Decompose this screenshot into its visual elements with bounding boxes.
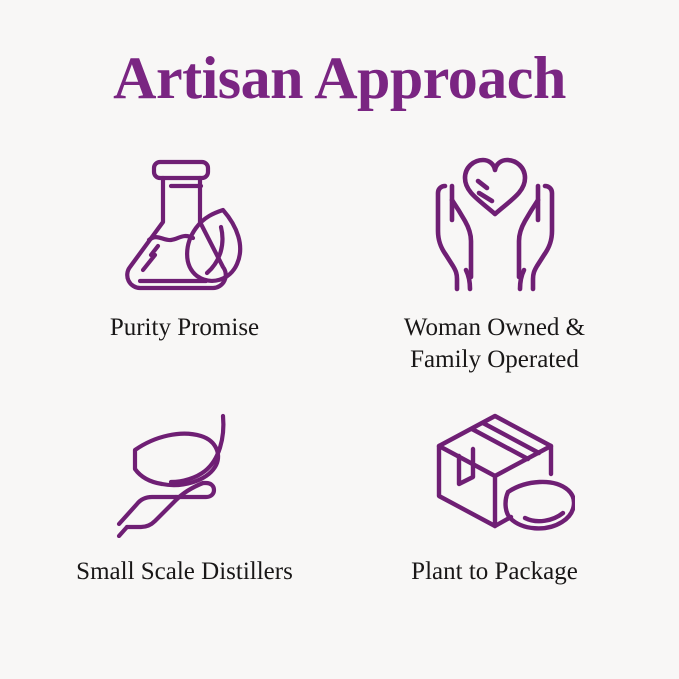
feature-label: Small Scale Distillers xyxy=(76,556,293,588)
feature-purity-promise: Purity Promise xyxy=(30,148,340,376)
hands-heart-icon xyxy=(415,148,575,298)
box-leaf-icon xyxy=(415,408,575,538)
feature-small-scale-distillers: Small Scale Distillers xyxy=(30,408,340,588)
features-grid: Purity Promise xyxy=(30,148,650,588)
page-title: Artisan Approach xyxy=(113,48,566,108)
feature-label: Purity Promise xyxy=(110,312,259,344)
artisan-approach-panel: Artisan Approach xyxy=(0,0,679,679)
feature-label: Plant to Package xyxy=(411,556,578,588)
feature-plant-to-package: Plant to Package xyxy=(340,408,650,588)
flask-leaf-icon xyxy=(105,148,265,298)
feature-label: Woman Owned & Family Operated xyxy=(404,312,585,376)
feature-woman-owned: Woman Owned & Family Operated xyxy=(340,148,650,376)
hand-leaf-icon xyxy=(105,408,265,538)
